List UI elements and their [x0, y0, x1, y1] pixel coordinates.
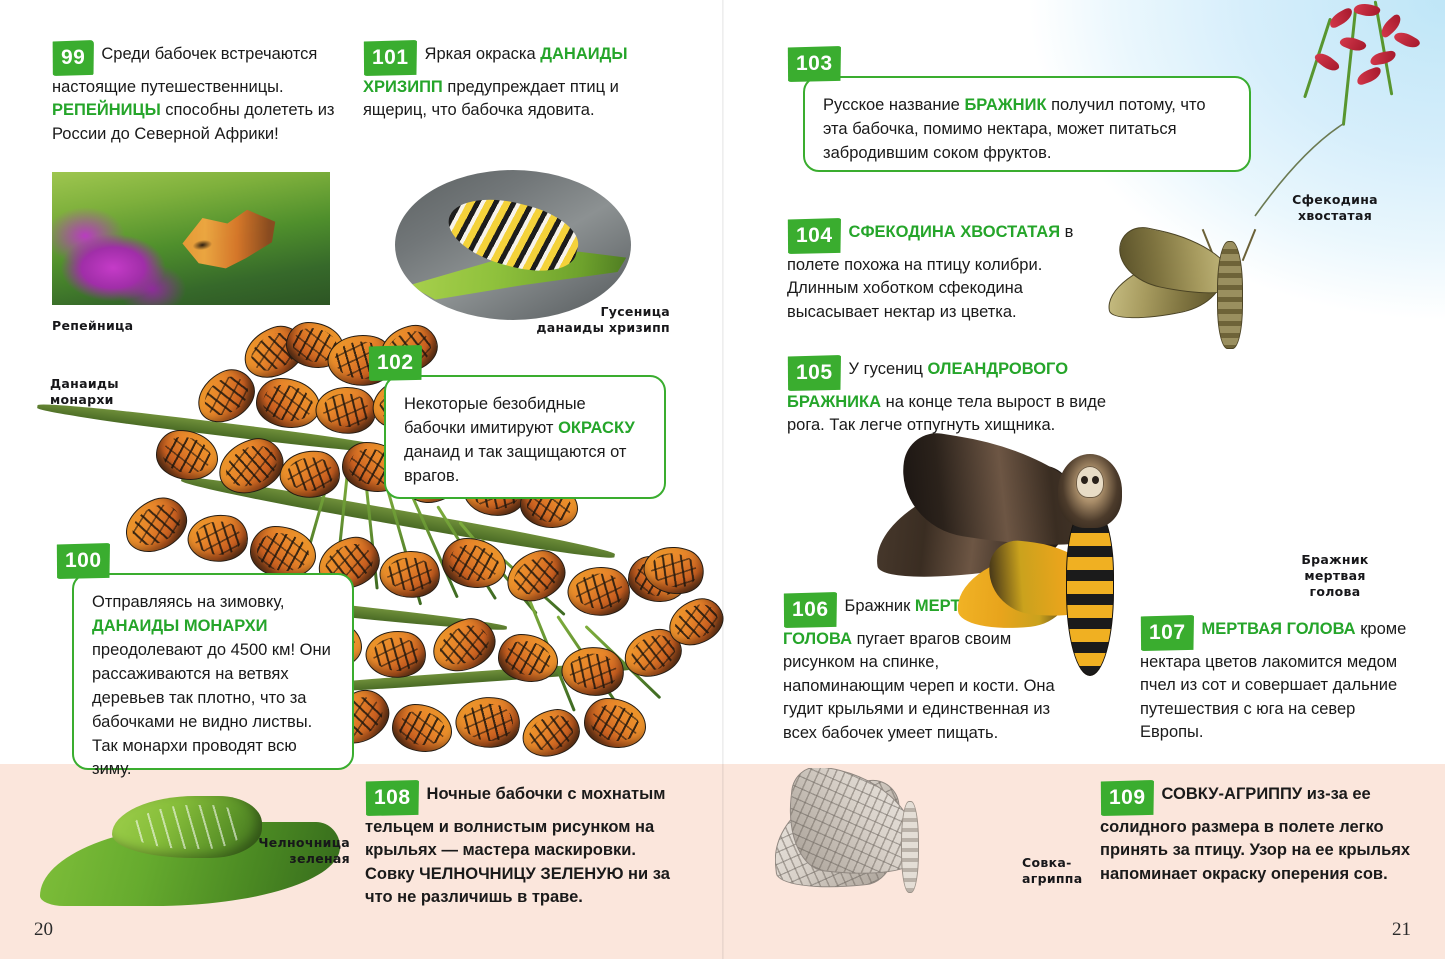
caption-repeinitsa: Репейница	[52, 318, 133, 334]
fact-109: 109СОВКУ-АГРИППУ из-за ее солидного разм…	[1100, 780, 1412, 886]
fact-103-part-0: Русское название	[823, 96, 964, 114]
photo-painted-lady-butterfly	[52, 172, 330, 305]
flower-decoration	[1270, 0, 1445, 130]
fact-101-part-0: Яркая окраска	[425, 45, 541, 63]
fact-103-part-1: БРАЖНИК	[964, 96, 1046, 114]
fact-99-part-1: РЕПЕЙНИЦЫ	[52, 101, 161, 119]
caption-deathshead-line1: Бражник	[1275, 552, 1395, 568]
fact-100-part-0: Отправляясь на зимовку,	[92, 593, 285, 611]
deathshead-skull-marking	[1076, 466, 1104, 498]
caption-agrippa-line1: Совка-	[1022, 855, 1072, 871]
fact-100-number-badge: 100	[56, 543, 111, 579]
fact-108-text: 108Ночные бабочки с мохнатым тельцем и в…	[365, 780, 687, 910]
fact-104: 104СФЕКОДИНА ХВОСТАТАЯ в полете похожа н…	[787, 218, 1092, 324]
fact-105-part-0: У гусениц	[849, 360, 928, 378]
fact-101-number-badge: 101	[363, 40, 418, 76]
fact-104-part-0: СФЕКОДИНА ХВОСТАТАЯ	[849, 223, 1061, 241]
caption-deathshead-line3: голова	[1275, 584, 1395, 600]
caption-greenmoth-line1: Челночница	[210, 835, 350, 851]
caption-caterpillar-line2: данаиды хризипп	[480, 320, 670, 336]
fact-109-number-badge: 109	[1100, 780, 1155, 816]
fact-103-number-badge: 103	[787, 46, 842, 82]
caption-deathshead-line2: мертвая	[1275, 568, 1395, 584]
deathshead-abdomen	[1066, 508, 1114, 676]
photo-danaus-chrysippus-caterpillar	[395, 170, 631, 320]
fact-99-number-badge: 99	[52, 40, 94, 76]
fact-101-text: 101Яркая окраска ДАНАИДЫ ХРИЗИПП предупр…	[363, 40, 651, 123]
fact-102-part-1: ОКРАСКУ	[558, 419, 635, 437]
caption-sphecodina-line2: хвостатая	[1275, 208, 1395, 224]
fact-101: 101Яркая окраска ДАНАИДЫ ХРИЗИПП предупр…	[363, 40, 651, 123]
fact-100-part-2: преодолевают до 4500 км! Они рассаживают…	[92, 641, 331, 779]
fact-103-text: Русское название БРАЖНИК получил потому,…	[805, 78, 1249, 180]
photo-sphecodina-hawkmoth	[1090, 215, 1370, 375]
fact-108: 108Ночные бабочки с мохнатым тельцем и в…	[365, 780, 687, 910]
fact-102-bubble: Некоторые безобидные бабочки имитируют О…	[384, 375, 666, 499]
fact-102-part-2: данаид и так защищаются от врагов.	[404, 443, 626, 485]
fact-99-text: 99Среди бабочек встречаются настоящие пу…	[52, 40, 344, 146]
fact-102-number-badge: 102	[368, 345, 423, 381]
fact-100-part-1: ДАНАИДЫ МОНАРХИ	[92, 617, 268, 635]
fact-99: 99Среди бабочек встречаются настоящие пу…	[52, 40, 344, 146]
caption-monarchs-line1: Данаиды	[50, 376, 119, 392]
fact-104-text: 104СФЕКОДИНА ХВОСТАТАЯ в полете похожа н…	[787, 218, 1092, 324]
caption-monarchs-line2: монархи	[50, 392, 114, 408]
caption-sphecodina-line1: Сфекодина	[1275, 192, 1395, 208]
caption-agrippa-line2: агриппа	[1022, 871, 1082, 887]
fact-104-number-badge: 104	[787, 218, 842, 254]
fact-103-bubble: Русское название БРАЖНИК получил потому,…	[803, 76, 1251, 172]
fact-100-bubble: Отправляясь на зимовку, ДАНАИДЫ МОНАРХИ …	[72, 573, 354, 770]
fact-105-number-badge: 105	[787, 355, 842, 391]
fact-102-text: Некоторые безобидные бабочки имитируют О…	[386, 377, 664, 503]
caption-caterpillar-line1: Гусеница	[480, 304, 670, 320]
fact-106-number-badge: 106	[783, 592, 838, 628]
fact-100-text: Отправляясь на зимовку, ДАНАИДЫ МОНАРХИ …	[74, 575, 352, 796]
page-number-right: 21	[1392, 919, 1411, 941]
agrippa-body	[901, 801, 919, 893]
fact-108-number-badge: 108	[365, 780, 420, 816]
photo-agrippa-owlet-moth	[775, 768, 1045, 918]
hawkmoth-body	[1217, 241, 1243, 349]
fact-109-text: 109СОВКУ-АГРИППУ из-за ее солидного разм…	[1100, 780, 1412, 886]
photo-deaths-head-hawkmoth	[855, 418, 1325, 718]
caption-greenmoth-line2: зеленая	[210, 851, 350, 867]
